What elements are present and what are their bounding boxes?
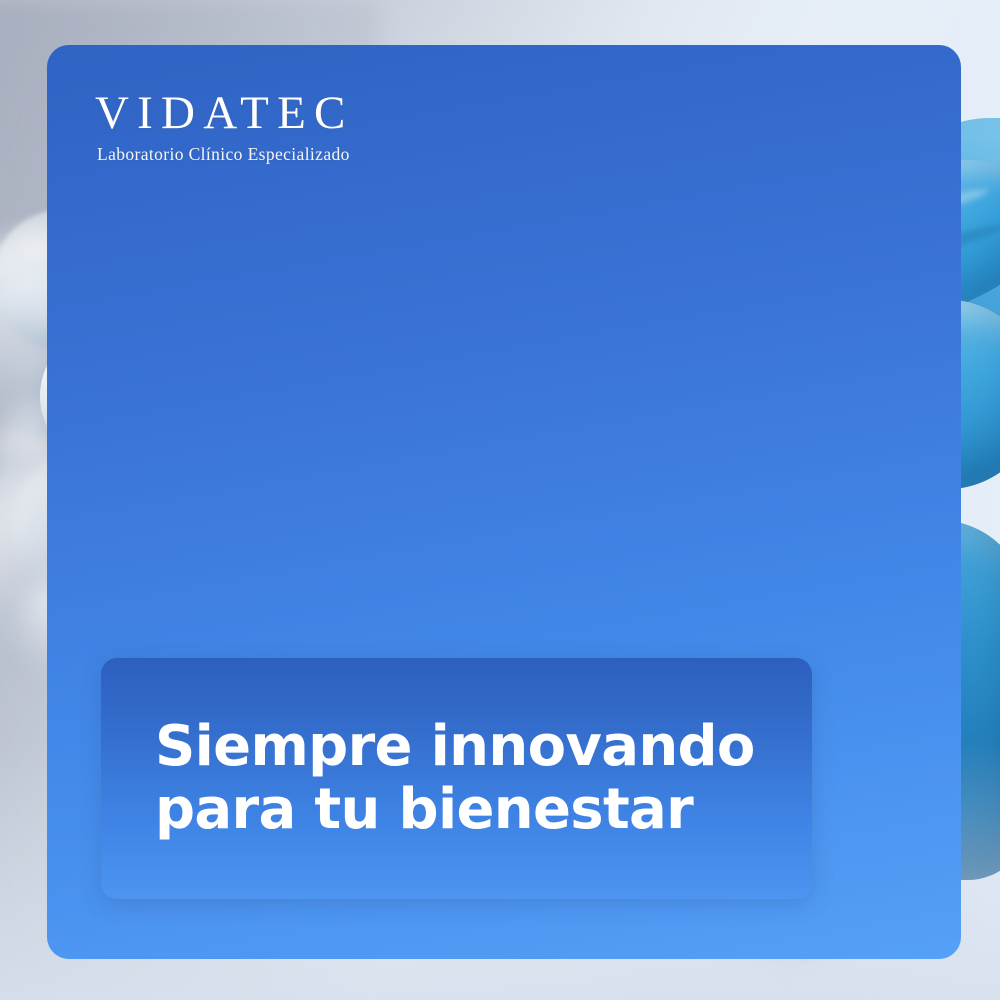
- test-tube-rim-inner: [752, 108, 832, 128]
- headline-line-2: para tu bienestar: [155, 779, 812, 842]
- headline-banner: Siempre innovando para tu bienestar: [101, 658, 812, 899]
- glove-wrinkle: [597, 346, 927, 404]
- brand-name: VIDATEC: [95, 90, 515, 137]
- brand-tagline: Laboratorio Clínico Especializado: [97, 146, 515, 164]
- brand-logo: VIDATEC Laboratorio Clínico Especializad…: [95, 90, 515, 164]
- headline-line-1: Siempre innovando: [155, 716, 812, 779]
- molecule-node: [258, 322, 384, 448]
- poster-canvas: VIDATEC Laboratorio Clínico Especializad…: [0, 0, 1000, 1000]
